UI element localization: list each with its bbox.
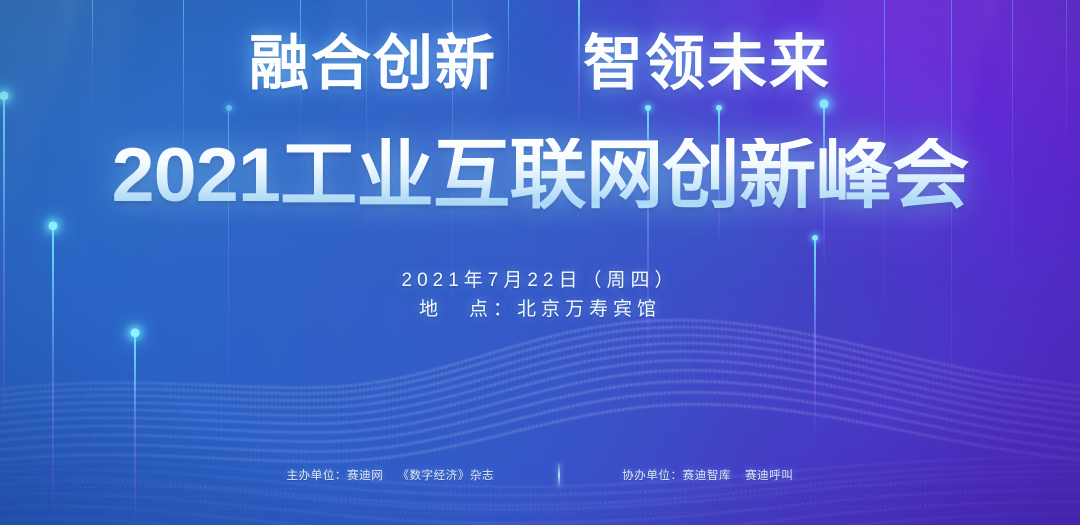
glow-dot-icon: [820, 99, 829, 108]
event-meta: 2021年7月22日（周四） 地点：北京万寿宾馆: [0, 266, 1080, 325]
footer-host: 主办单位：赛迪网《数字经济》杂志: [287, 467, 559, 483]
glow-dot-icon: [131, 328, 140, 337]
glow-dot-icon: [812, 235, 818, 241]
conference-key-visual: 融合创新智领未来 2021工业互联网创新峰会 2021年7月22日（周四） 地点…: [0, 0, 1080, 525]
event-location-value: 北京万寿宾馆: [517, 299, 661, 320]
tagline-left: 融合创新: [249, 31, 497, 97]
glow-dot-icon: [716, 105, 722, 111]
footer-coorg-value-1: 赛迪智库: [683, 470, 731, 482]
footer-credits: 主办单位：赛迪网《数字经济》杂志 协办单位：赛迪智库赛迪呼叫: [0, 463, 1080, 487]
glow-dot-icon: [226, 105, 232, 111]
event-location-label-colon: 点：: [469, 299, 517, 320]
footer-coorg-label: 协办单位：: [622, 470, 683, 482]
glow-dot-icon: [645, 105, 651, 111]
event-location: 地点：北京万寿宾馆: [0, 295, 1080, 324]
glow-line: [134, 333, 136, 525]
footer-host-label: 主办单位：: [287, 470, 348, 482]
tagline: 融合创新智领未来: [0, 34, 1080, 94]
glow-dot-icon: [49, 221, 58, 230]
event-date: 2021年7月22日（周四）: [0, 266, 1080, 295]
footer-coorg-value-2: 赛迪呼叫: [745, 470, 793, 482]
footer-host-value-1: 赛迪网: [347, 470, 383, 482]
footer-coorganizer: 协办单位：赛迪智库赛迪呼叫: [560, 467, 793, 483]
dotted-wave-decoration: [0, 295, 1080, 525]
event-location-label: 地: [419, 299, 443, 320]
page-title: 2021工业互联网创新峰会: [0, 138, 1080, 214]
tagline-right: 智领未来: [583, 31, 831, 97]
footer-host-value-2: 《数字经济》杂志: [397, 470, 494, 482]
